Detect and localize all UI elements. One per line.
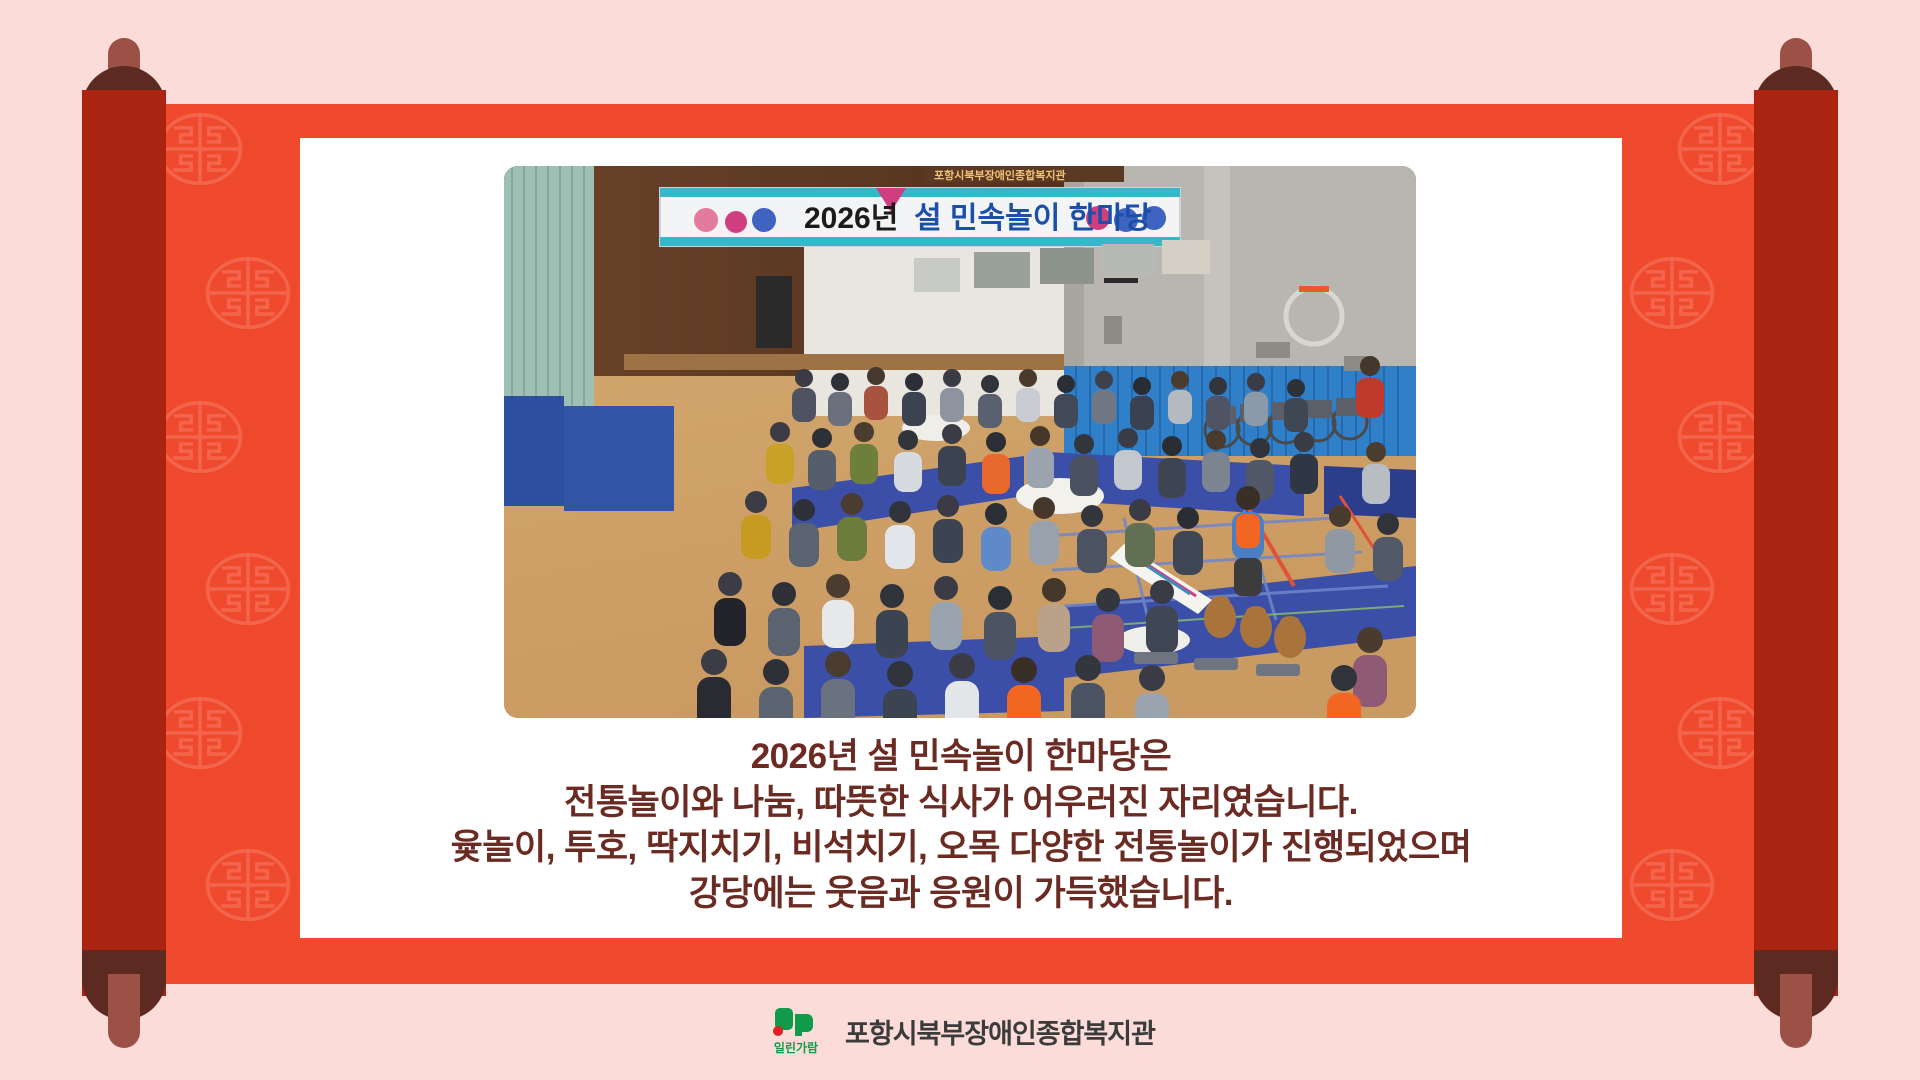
caption-line-2: 전통놀이와 나눔, 따뜻한 식사가 어우러진 자리였습니다. [300,780,1622,826]
caption-line-4: 강당에는 웃음과 응원이 가득했습니다. [300,871,1622,917]
longevity-su-medallion-icon [1628,552,1716,626]
logo-sub-text: 일린가람 [774,1040,818,1055]
longevity-su-medallion-icon [1628,256,1716,330]
longevity-su-medallion-icon [156,696,244,770]
longevity-su-medallion-icon [1676,400,1764,474]
longevity-su-medallion-icon [1676,696,1764,770]
content-card: 2026년 설 민속놀이 한마당 포항시북부장애인종합복지관 [300,138,1622,938]
longevity-su-medallion-icon [156,400,244,474]
longevity-su-medallion-icon [204,256,292,330]
footer-logo: 일린가람 포항시북부장애인종합복지관 [0,1000,1920,1062]
scroll-rod-right [1754,38,1838,1048]
svg-text:설 민속놀이 한마당: 설 민속놀이 한마당 [914,202,1152,235]
svg-text:2026년: 2026년 [804,202,898,235]
caption-line-3: 윷놀이, 투호, 딱지치기, 비석치기, 오목 다양한 전통놀이가 진행되었으며 [300,825,1622,871]
longevity-su-medallion-icon [1676,112,1764,186]
medallion-column-left [150,104,310,984]
caption-block: 2026년 설 민속놀이 한마당은 전통놀이와 나눔, 따뜻한 식사가 어우러진… [300,734,1622,916]
longevity-su-medallion-icon [204,552,292,626]
event-photo: 2026년 설 민속놀이 한마당 포항시북부장애인종합복지관 [504,166,1416,718]
rod-body [82,90,166,996]
scroll-rod-left [82,38,166,1048]
rod-body [1754,90,1838,996]
longevity-su-medallion-icon [156,112,244,186]
caption-line-1: 2026년 설 민속놀이 한마당은 [300,734,1622,780]
svg-text:포항시북부장애인종합복지관: 포항시북부장애인종합복지관 [934,168,1066,182]
medallion-column-right [1610,104,1770,984]
organization-name: 포항시북부장애인종합복지관 [845,1012,1155,1051]
longevity-su-medallion-icon [204,848,292,922]
longevity-su-medallion-icon [1628,848,1716,922]
ilrin-garam-logo-icon: 일린가람 [765,1000,827,1062]
